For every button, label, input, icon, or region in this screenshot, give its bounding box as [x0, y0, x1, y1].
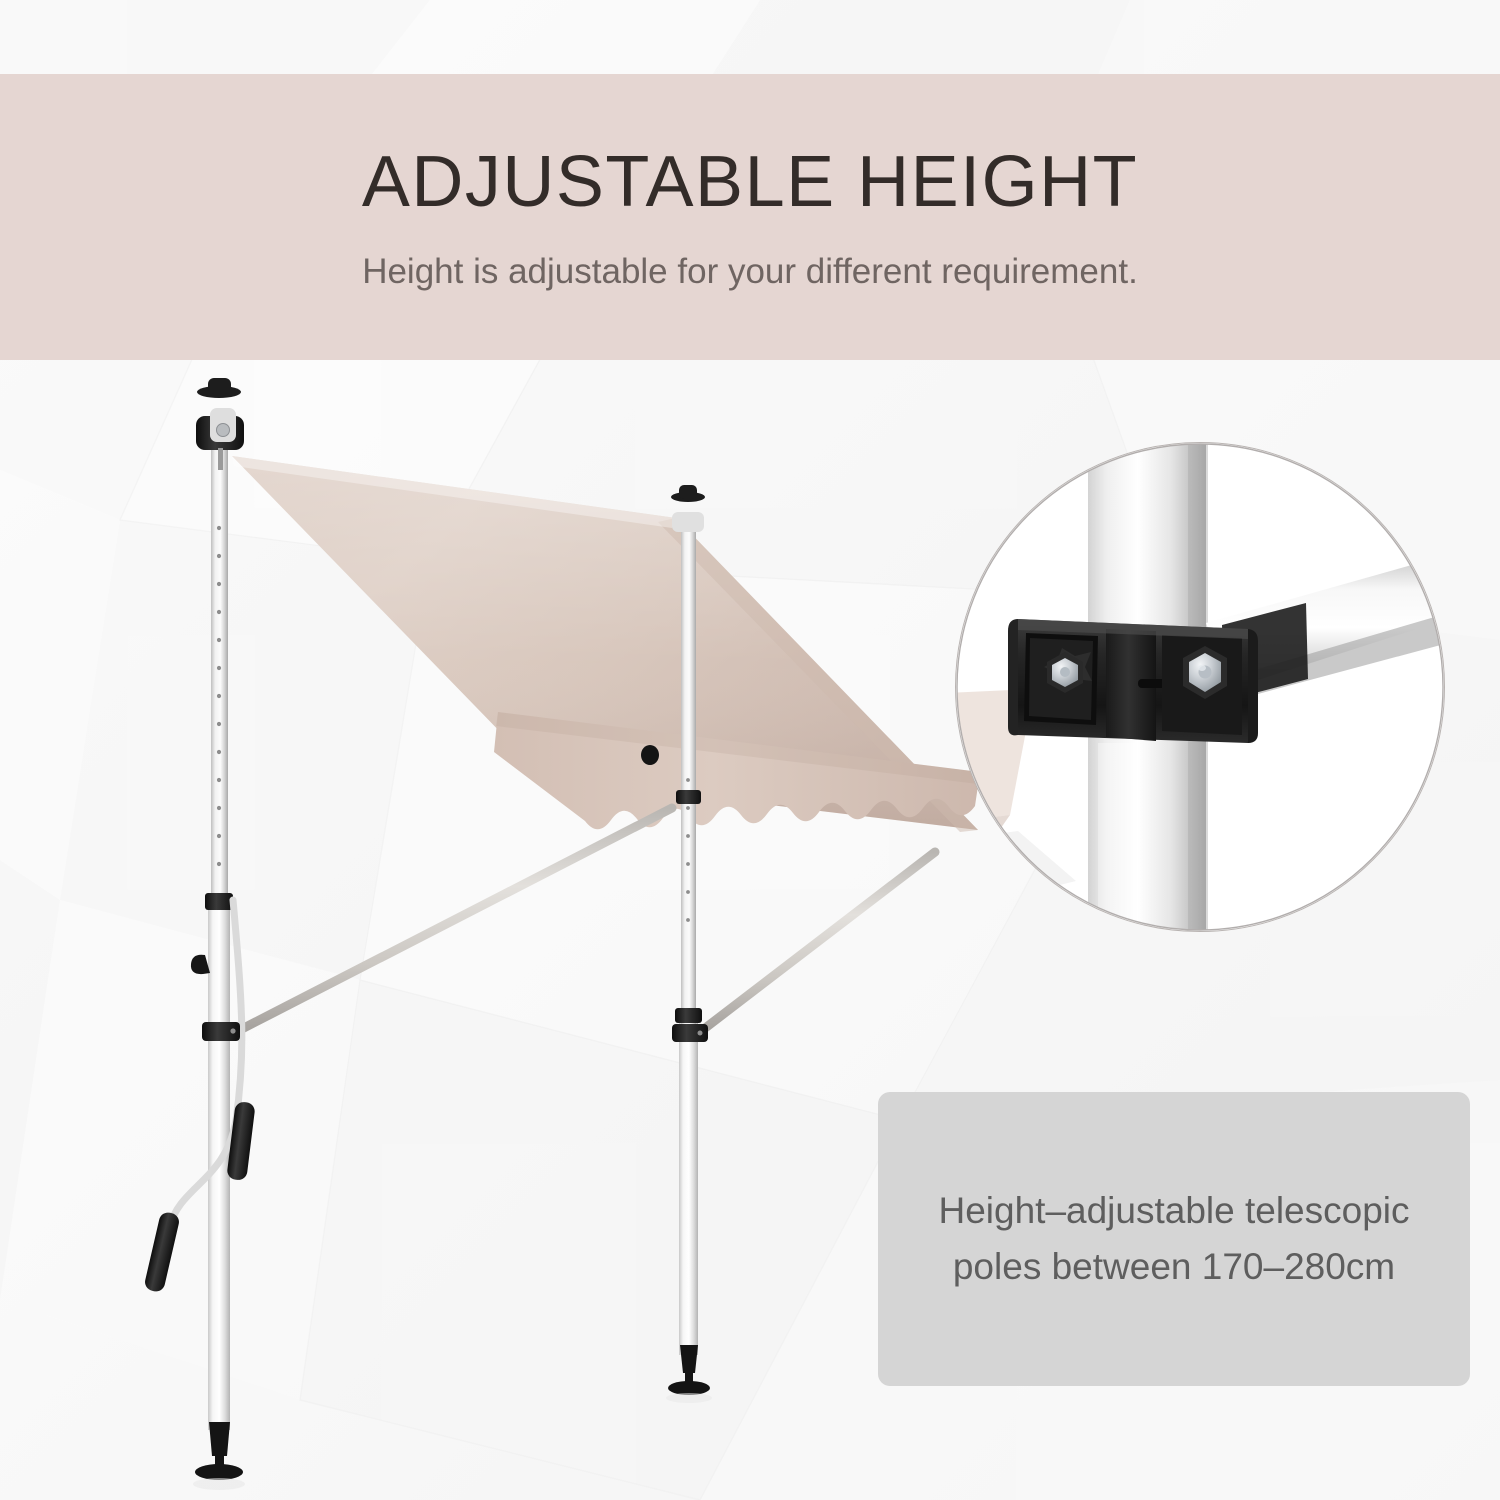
right-brace-clamp	[672, 1024, 708, 1042]
right-canopy-knob	[641, 745, 659, 765]
left-pole-lock-lever	[191, 955, 210, 974]
left-pole-foot-sleeve	[209, 1422, 230, 1456]
header-banner: ADJUSTABLE HEIGHT Height is adjustable f…	[0, 74, 1500, 360]
right-pole-locking-collar	[675, 1008, 702, 1023]
left-pole-foot-base	[195, 1464, 243, 1480]
left-pole-cap-body	[208, 378, 231, 394]
left-pole-locking-collar	[205, 893, 233, 910]
right-brace-clamp-bolt	[698, 1031, 703, 1036]
left-diagonal-brace	[236, 808, 672, 1032]
page-subtitle: Height is adjustable for your different …	[362, 254, 1138, 289]
bracket-left-cap	[1008, 619, 1018, 735]
right-pole-foot-shadow	[666, 1393, 712, 1403]
left-hinge-bolt	[217, 424, 230, 437]
bracket-closeup-circle	[955, 442, 1445, 932]
right-pole-cap-body	[679, 485, 697, 499]
left-telescopic-pole	[143, 378, 255, 1490]
awning-canopy	[232, 456, 985, 832]
right-pole-head-bracket	[672, 512, 704, 532]
bracket-closeup-drawing	[956, 443, 1444, 931]
right-pole-foot-sleeve	[680, 1345, 698, 1373]
right-diagonal-brace	[700, 852, 935, 1032]
spec-line-2: poles between 170–280cm	[953, 1239, 1395, 1295]
left-pole-foot-shadow	[193, 1478, 245, 1490]
crank-handle-grip	[143, 1211, 180, 1293]
support-braces	[236, 808, 935, 1032]
closeup-clamp-bracket	[1008, 619, 1258, 743]
right-pole-foot-base	[668, 1381, 710, 1395]
right-pole-upper-collar	[676, 790, 701, 804]
right-pole-lower-tube	[679, 1015, 698, 1355]
product-feature-image: ADJUSTABLE HEIGHT Height is adjustable f…	[0, 0, 1500, 1500]
left-brace-clamp-bolt	[230, 1028, 235, 1033]
left-hinge-pin	[218, 448, 223, 470]
closeup-pole-highlight	[1098, 743, 1138, 931]
spec-line-1: Height–adjustable telescopic	[938, 1183, 1409, 1239]
right-pole-upper-tube	[681, 524, 696, 1024]
bracket-right-cap	[1248, 629, 1258, 743]
page-title: ADJUSTABLE HEIGHT	[362, 146, 1138, 218]
spec-info-box: Height–adjustable telescopic poles betwe…	[878, 1092, 1470, 1386]
